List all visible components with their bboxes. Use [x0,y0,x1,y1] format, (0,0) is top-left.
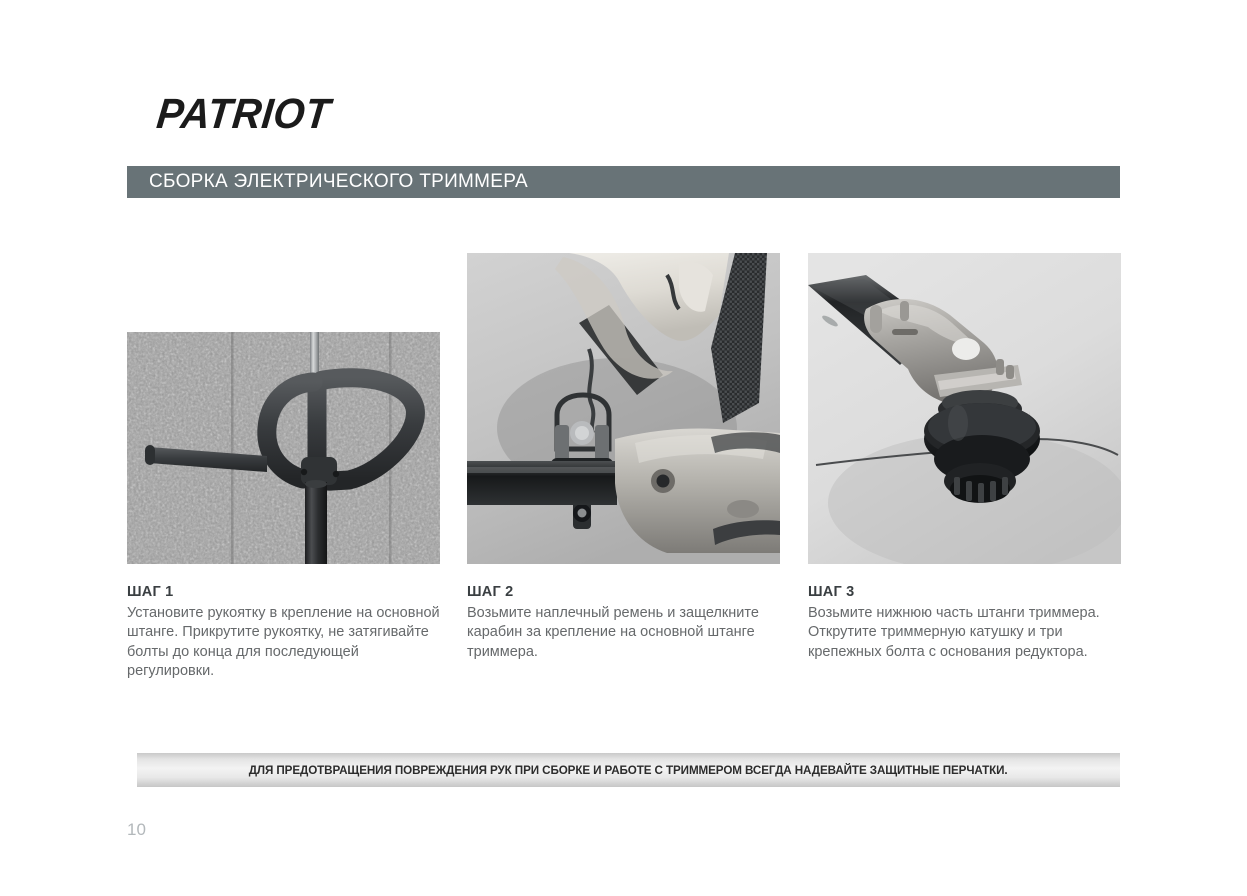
photo-shoulder-strap-carabiner [467,253,780,564]
assembly-steps: ШАГ 1 Установите рукоятку в крепление на… [127,253,1120,683]
step-title: ШАГ 3 [808,584,1121,600]
page-number: 10 [127,820,146,840]
safety-warning-text: ДЛЯ ПРЕДОТВРАЩЕНИЯ ПОВРЕЖДЕНИЯ РУК ПРИ С… [249,763,1008,777]
step-item: ШАГ 2 Возьмите наплечный ремень и защелк… [467,253,780,662]
safety-warning-banner: ДЛЯ ПРЕДОТВРАЩЕНИЯ ПОВРЕЖДЕНИЯ РУК ПРИ С… [137,753,1120,787]
step-body: Установите рукоятку в крепление на основ… [127,604,440,681]
section-header-bar: СБОРКА ЭЛЕКТРИЧЕСКОГО ТРИММЕРА [127,166,1120,198]
step-title: ШАГ 2 [467,584,780,600]
step-body: Возьмите нижнюю часть штанги триммера. О… [808,604,1121,662]
step-item: ШАГ 3 Возьмите нижнюю часть штанги тримм… [808,253,1121,662]
step-title: ШАГ 1 [127,584,440,600]
section-title: СБОРКА ЭЛЕКТРИЧЕСКОГО ТРИММЕРА [127,171,528,193]
photo-gearbox-trimmer-spool [808,253,1121,564]
step-body: Возьмите наплечный ремень и защелкните к… [467,604,780,662]
patriot-logo: PATRIOT [155,93,333,135]
step-item: ШАГ 1 Установите рукоятку в крепление на… [127,253,440,681]
photo-handle-mounted-on-shaft [127,332,440,564]
